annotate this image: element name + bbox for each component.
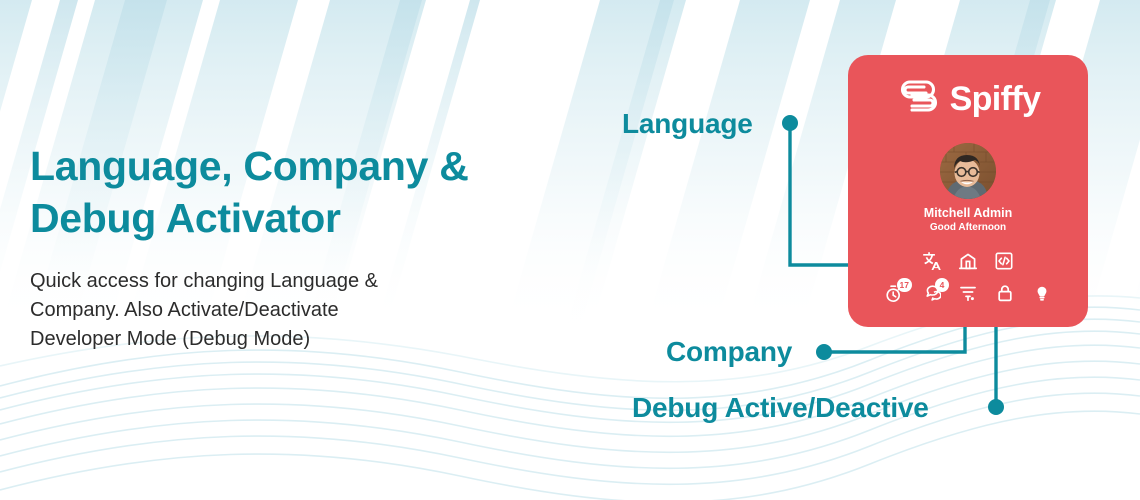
connector-dot-company [816,344,832,360]
tips-bulb-icon[interactable] [1032,283,1052,303]
promo-banner: Language, Company & Debug Activator Quic… [0,0,1140,500]
connector-dot-language [782,115,798,131]
secondary-action-icons: 17 4 [848,283,1088,303]
lock-icon[interactable] [995,283,1015,303]
company-building-icon[interactable] [958,251,978,271]
activity-timer-icon[interactable]: 17 [884,283,904,303]
spiffy-user-menu-card: Spiffy [848,55,1088,327]
activity-timer-badge: 17 [897,278,912,292]
messages-chat-badge: 4 [935,278,949,292]
brand-row: Spiffy [848,74,1088,123]
primary-action-icons [848,251,1088,271]
callout-label-language: Language [622,108,753,140]
connector-dot-debug [988,399,1004,415]
greeting-text: Good Afternoon [848,222,1088,233]
filter-settings-icon[interactable] [958,283,978,303]
spiffy-paperclip-s-logo-icon [896,74,942,123]
user-name: Mitchell Admin [848,206,1088,220]
callout-label-company: Company [666,336,792,368]
debug-code-icon[interactable] [994,251,1014,271]
avatar [940,143,996,199]
callout-label-debug: Debug Active/Deactive [632,392,929,424]
translate-language-icon[interactable] [922,251,942,271]
brand-name: Spiffy [950,82,1041,116]
messages-chat-icon[interactable]: 4 [921,283,941,303]
